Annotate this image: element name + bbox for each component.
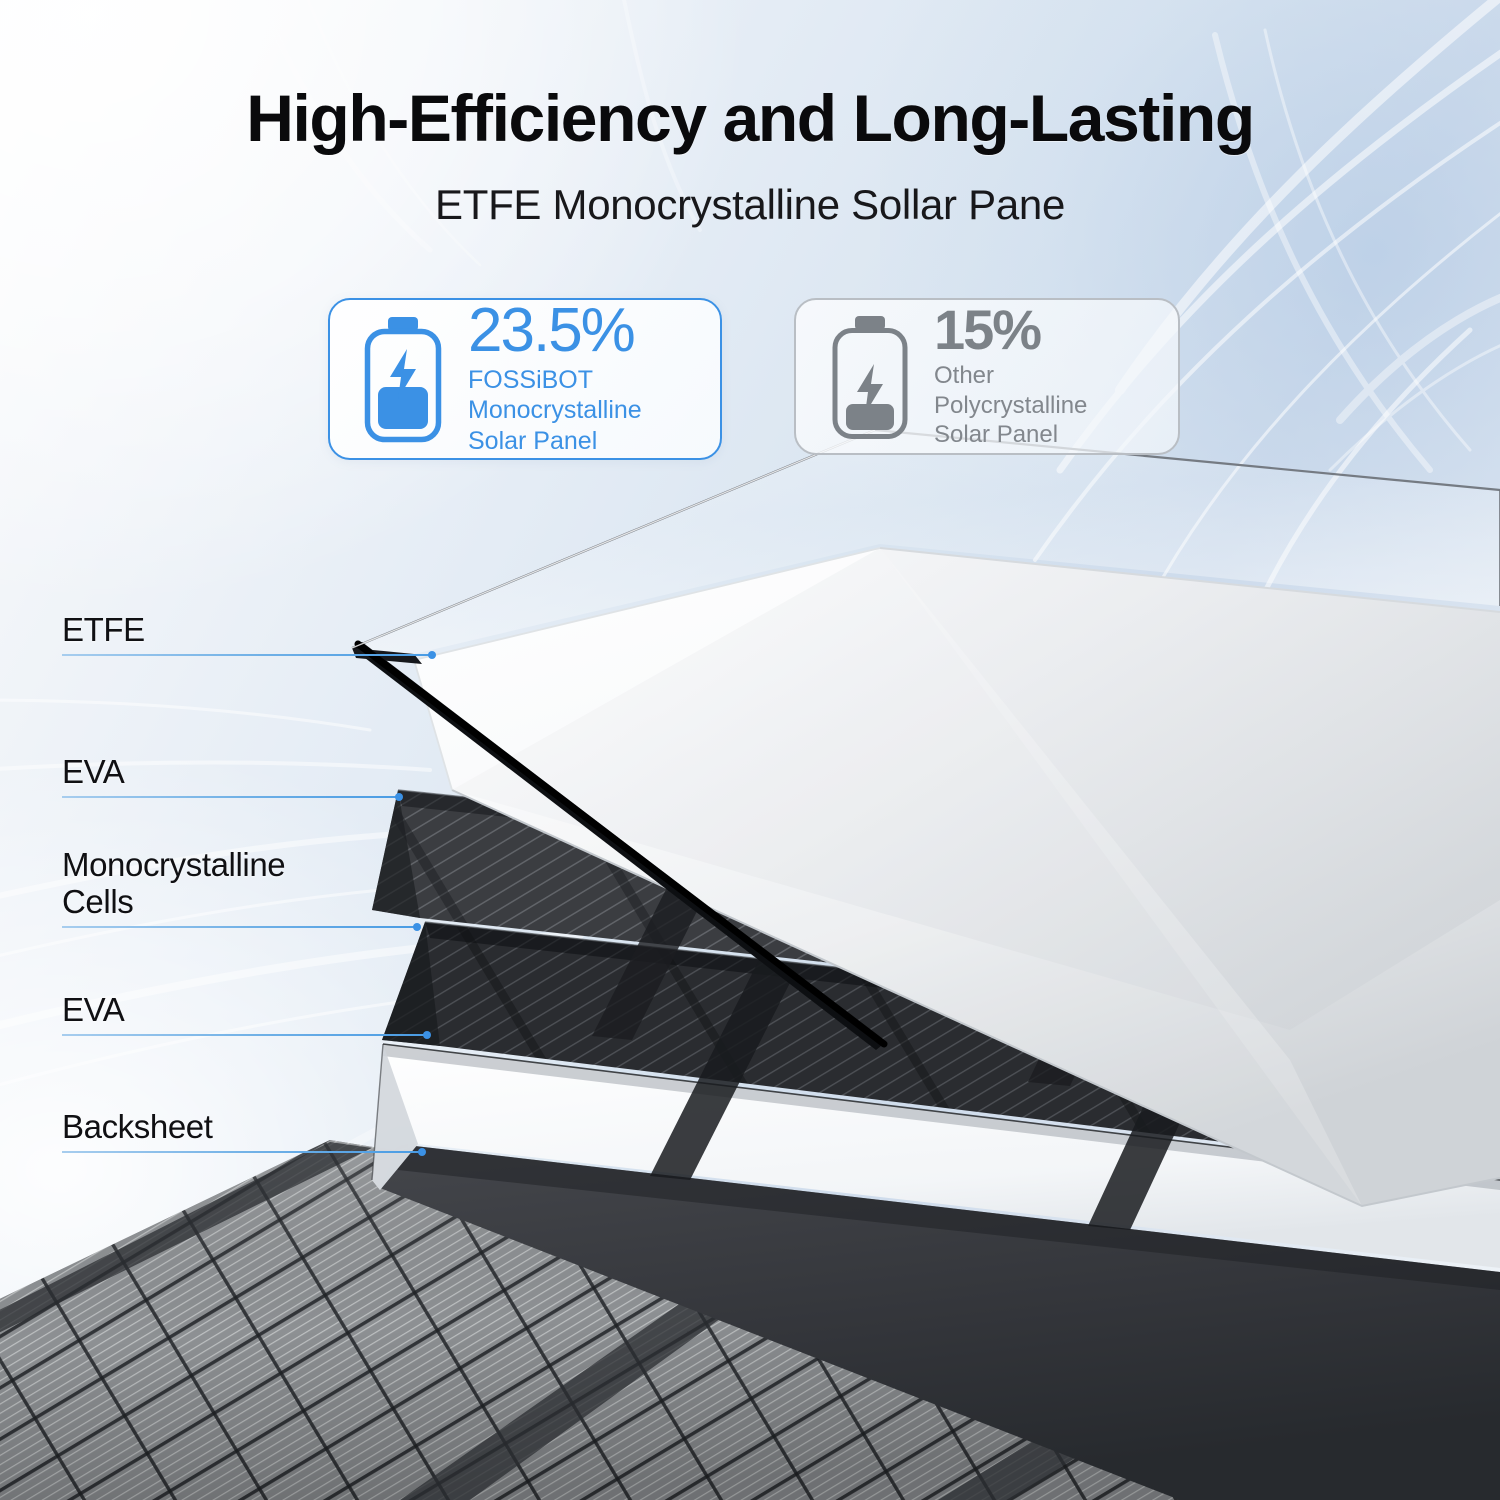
- leader-line-backsheet: [62, 1150, 426, 1153]
- layer-callouts: ETFE EVA Monocrystalline Cells EVA Backs…: [0, 0, 1500, 1500]
- leader-line-etfe: [62, 653, 436, 656]
- layer-label-backsheet: Backsheet: [62, 1109, 213, 1146]
- infographic-canvas: High-Efficiency and Long-Lasting ETFE Mo…: [0, 0, 1500, 1500]
- layer-label-etfe: ETFE: [62, 612, 145, 649]
- leader-endpoint-dot: [418, 1148, 426, 1156]
- leader-stroke: [62, 1151, 419, 1153]
- leader-stroke: [62, 1034, 424, 1036]
- layer-label-monocrystalline-cells: Monocrystalline Cells: [62, 847, 285, 921]
- leader-endpoint-dot: [423, 1031, 431, 1039]
- leader-stroke: [62, 654, 429, 656]
- leader-endpoint-dot: [395, 793, 403, 801]
- layer-label-eva-lower: EVA: [62, 992, 124, 1029]
- layer-label-eva-upper: EVA: [62, 754, 124, 791]
- leader-endpoint-dot: [413, 923, 421, 931]
- leader-line-monocrystalline-cells: [62, 925, 421, 928]
- leader-line-eva-lower: [62, 1033, 431, 1036]
- leader-line-eva-upper: [62, 795, 403, 798]
- leader-endpoint-dot: [428, 651, 436, 659]
- leader-stroke: [62, 926, 414, 928]
- leader-stroke: [62, 796, 396, 798]
